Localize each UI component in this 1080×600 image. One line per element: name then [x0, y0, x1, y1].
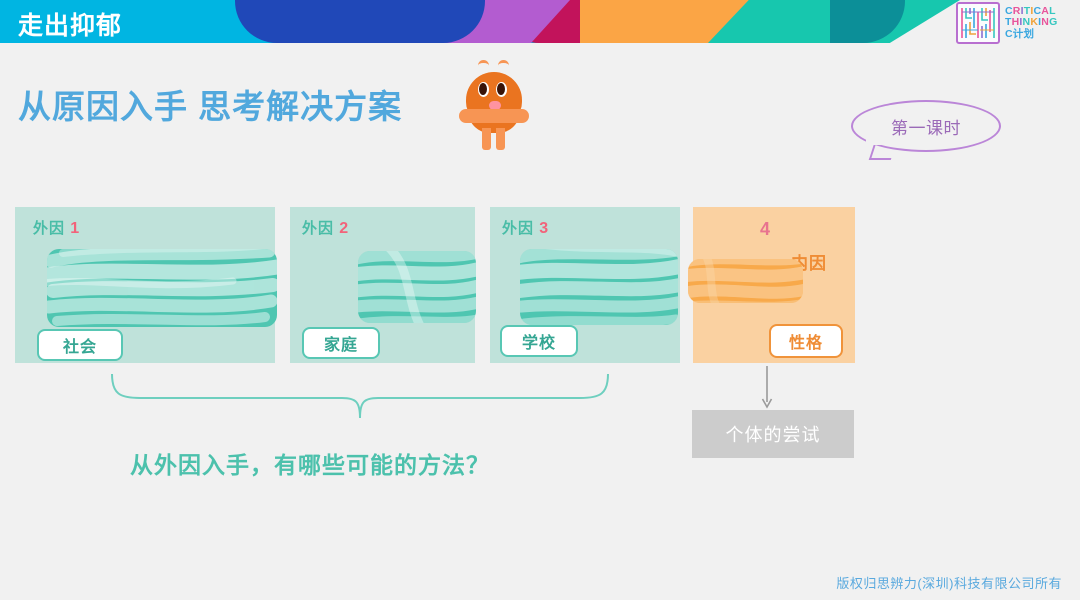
- maze-logo-svg: [958, 4, 998, 42]
- arrow-svg: [760, 366, 774, 412]
- card-2-label: 外因 2: [302, 217, 349, 238]
- card-4-obscured-content: [688, 259, 803, 303]
- card-4-number: 4: [760, 219, 770, 240]
- banner-title: 走出抑郁: [18, 6, 122, 42]
- lesson-badge-text: 第一课时: [891, 114, 961, 139]
- card-1-tag[interactable]: 社会: [37, 329, 123, 361]
- card-1-obscured-content: [47, 249, 277, 327]
- banner-blue-rounded-shape: [235, 0, 485, 43]
- mascot-brow-left: [478, 60, 489, 69]
- card-1-label: 外因 1: [33, 217, 80, 238]
- card-1-scribble-overlay: [47, 249, 277, 327]
- card-3-label: 外因 3: [502, 217, 549, 238]
- maze-logo-mark-icon: [956, 2, 1000, 44]
- cause-card-1[interactable]: 外因 1 社会: [15, 207, 275, 363]
- internal-cause-card-4[interactable]: 4 内因 性格: [693, 207, 855, 363]
- mascot-pupil-left: [479, 83, 487, 95]
- top-banner: [0, 0, 1080, 43]
- cause-card-2[interactable]: 外因 2 家庭: [290, 207, 475, 363]
- brace-svg: [110, 372, 610, 422]
- cause-card-3[interactable]: 外因 3 学校: [490, 207, 680, 363]
- card-4-tag[interactable]: 性格: [769, 324, 843, 358]
- copyright-footer: 版权归思辨力(深圳)科技有限公司所有: [836, 573, 1062, 592]
- mascot-pupil-right: [497, 83, 505, 95]
- card-3-obscured-content: [520, 249, 678, 325]
- outcome-box: 个体的尝试: [692, 410, 854, 458]
- card-3-tag[interactable]: 学校: [500, 325, 578, 357]
- card-1-number: 1: [70, 220, 80, 237]
- group-brace: [110, 372, 610, 427]
- orange-mascot-icon: [452, 58, 536, 150]
- card-2-number: 2: [339, 220, 349, 237]
- logo-line-cplan: C计划: [1005, 29, 1057, 40]
- card-2-tag[interactable]: 家庭: [302, 327, 380, 359]
- page-title: 从原因入手 思考解决方案: [18, 80, 402, 128]
- brand-logo: CRITICAL THINKING C计划: [956, 2, 1074, 44]
- card-4-scribble-overlay: [688, 259, 803, 303]
- bubble-tail-mask: [866, 136, 900, 145]
- logo-wordmark: CRITICAL THINKING C计划: [1005, 6, 1057, 39]
- card-2-obscured-content: [358, 251, 476, 323]
- mascot-leg-right: [496, 128, 505, 150]
- card-3-scribble-overlay: [520, 249, 678, 325]
- card-2-scribble-overlay: [358, 251, 476, 323]
- mascot-leg-left: [482, 128, 491, 150]
- logo-line-thinking: THINKING: [1005, 17, 1057, 28]
- mascot-brow-right: [498, 60, 509, 69]
- card-3-number: 3: [539, 220, 549, 237]
- question-text: 从外因入手，有哪些可能的方法？: [130, 446, 490, 480]
- mascot-band: [459, 109, 529, 123]
